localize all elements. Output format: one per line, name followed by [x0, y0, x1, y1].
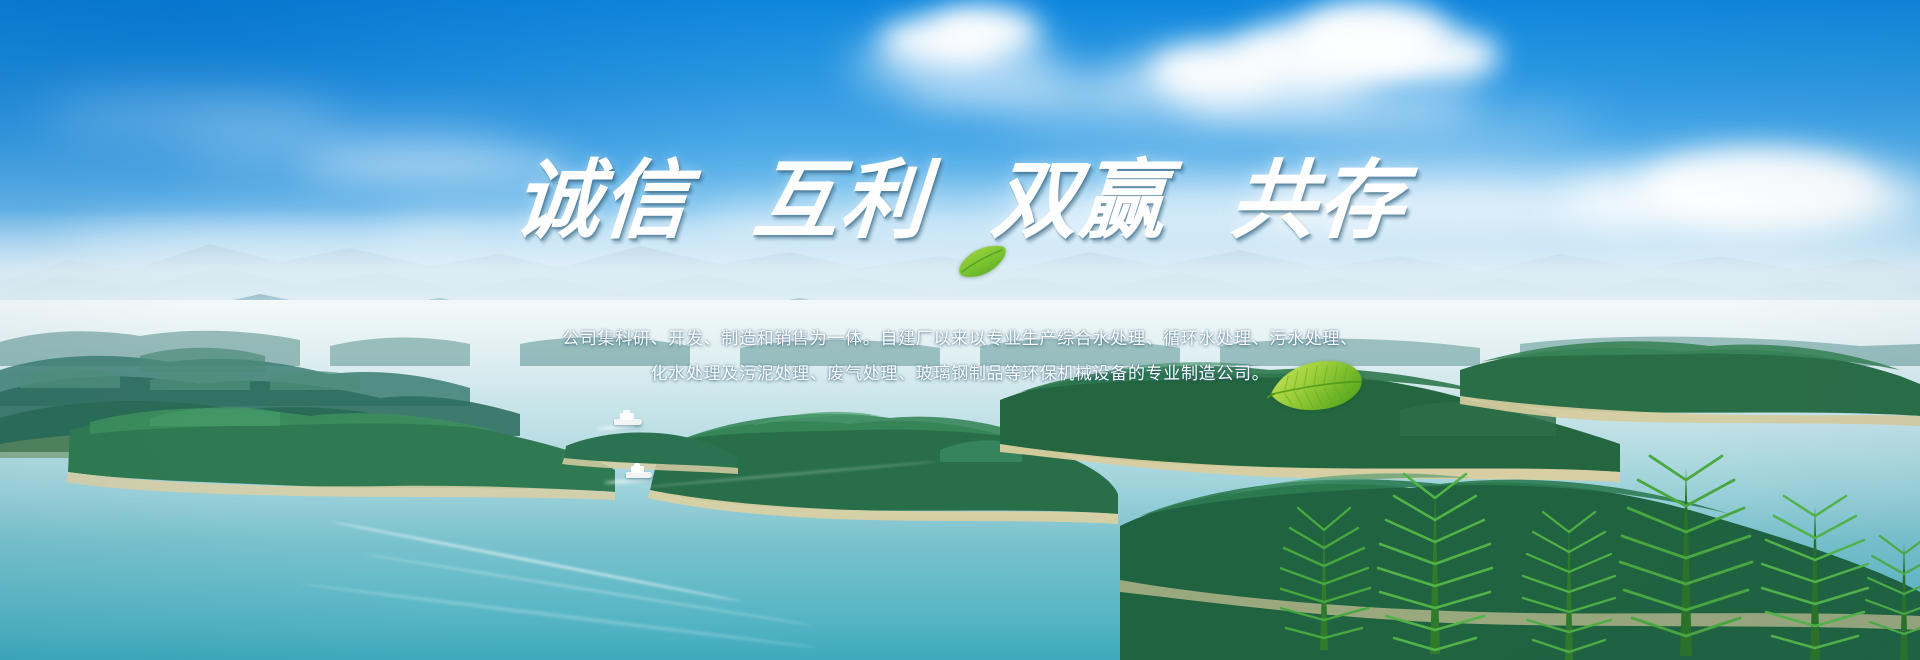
banner-subtitle: 公司集科研、开发、制造和销售为一体。自建厂以来以专业生产综合水处理、循环水处理、…	[0, 322, 1920, 392]
hero-banner: 诚信 互利 双赢 共存	[0, 0, 1920, 660]
foreground-pine-foliage	[1280, 440, 1920, 660]
subtitle-line-1: 公司集科研、开发、制造和销售为一体。自建厂以来以专业生产综合水处理、循环水处理、…	[0, 322, 1920, 357]
subtitle-line-2: 化水处理及污泥处理、废气处理、玻璃钢制品等环保机械设备的专业制造公司。	[0, 357, 1920, 392]
island-left-shore	[60, 400, 620, 520]
banner-headline: 诚信 互利 双赢 共存	[0, 158, 1920, 244]
